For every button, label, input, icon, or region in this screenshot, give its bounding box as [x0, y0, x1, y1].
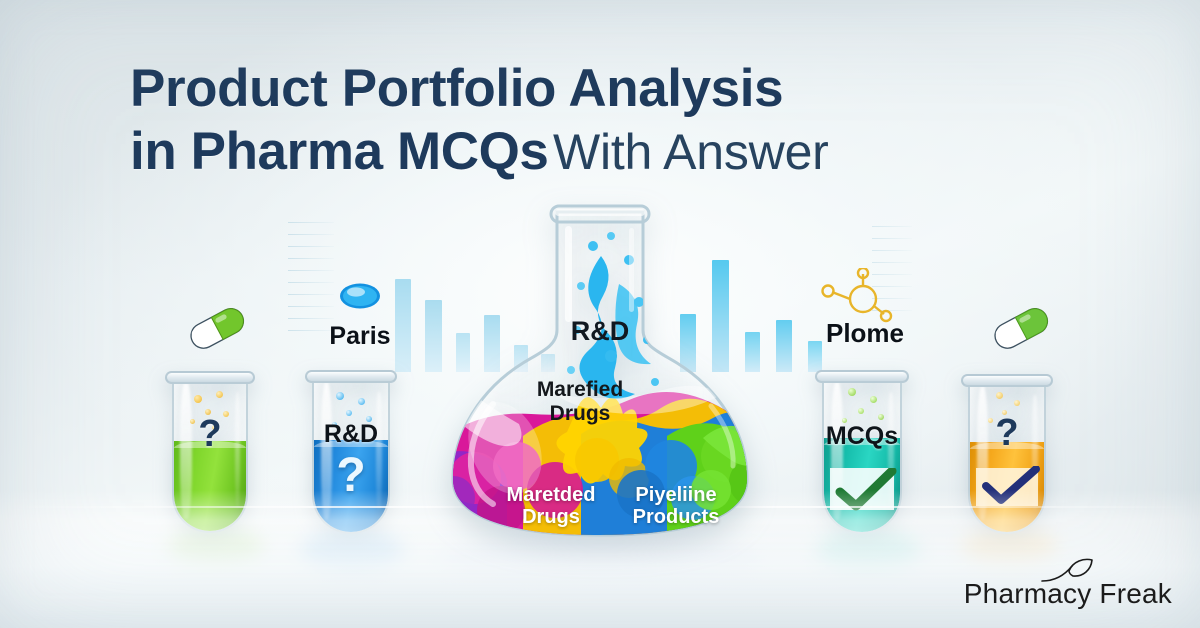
flask-bottom-right-label: Piyeliine Products	[601, 484, 751, 528]
tube-green-question: ?	[172, 413, 248, 456]
flask-bottom-left-line1: Maretded	[481, 484, 621, 506]
tube-orange-question: ?	[968, 412, 1046, 455]
tube-rim	[961, 374, 1053, 387]
tube-blue-toplabel: Paris	[300, 322, 420, 351]
title-line-1: Product Portfolio Analysis	[130, 62, 1090, 115]
droplet-icon	[339, 282, 381, 310]
flask-mid-label-line2: Drugs	[505, 402, 655, 426]
flask-group: R&D Marefied Drugs Maretded Drugs Piyeli…	[405, 198, 795, 543]
flask-bottom-left-label: Maretded Drugs	[481, 484, 621, 528]
tube-teal-inner-label: MCQs	[822, 422, 902, 451]
flask-bottom-left-line2: Drugs	[481, 506, 621, 528]
tube-rim	[815, 370, 909, 383]
flask-bottom-right-line2: Products	[601, 506, 751, 528]
tube-teal-toplabel: Plome	[800, 318, 930, 349]
brand-logo[interactable]: Pharmacy Freak	[964, 578, 1172, 610]
flask-mid-label: Marefied Drugs	[505, 378, 655, 425]
title-line-2: in Pharma MCQs With Answer	[130, 125, 1090, 178]
tube-rim	[165, 371, 255, 384]
capsule-icon	[186, 306, 248, 350]
flask-mid-label-line1: Marefied	[505, 378, 655, 402]
title-bold-2: in Pharma MCQs	[130, 122, 549, 181]
leaf-icon	[1040, 558, 1094, 584]
title-light: With Answer	[553, 124, 829, 180]
flask-neck-label: R&D	[545, 316, 655, 347]
capsule-icon	[990, 306, 1052, 350]
title-bold-1: Product Portfolio Analysis	[130, 59, 783, 118]
tube-blue-inner-label: R&D	[312, 420, 390, 449]
poster-title: Product Portfolio Analysis in Pharma MCQ…	[130, 62, 1090, 178]
tube-rim	[305, 370, 397, 383]
poster-canvas: Product Portfolio Analysis in Pharma MCQ…	[0, 0, 1200, 628]
flask-bottom-right-line1: Piyeliine	[601, 484, 751, 506]
